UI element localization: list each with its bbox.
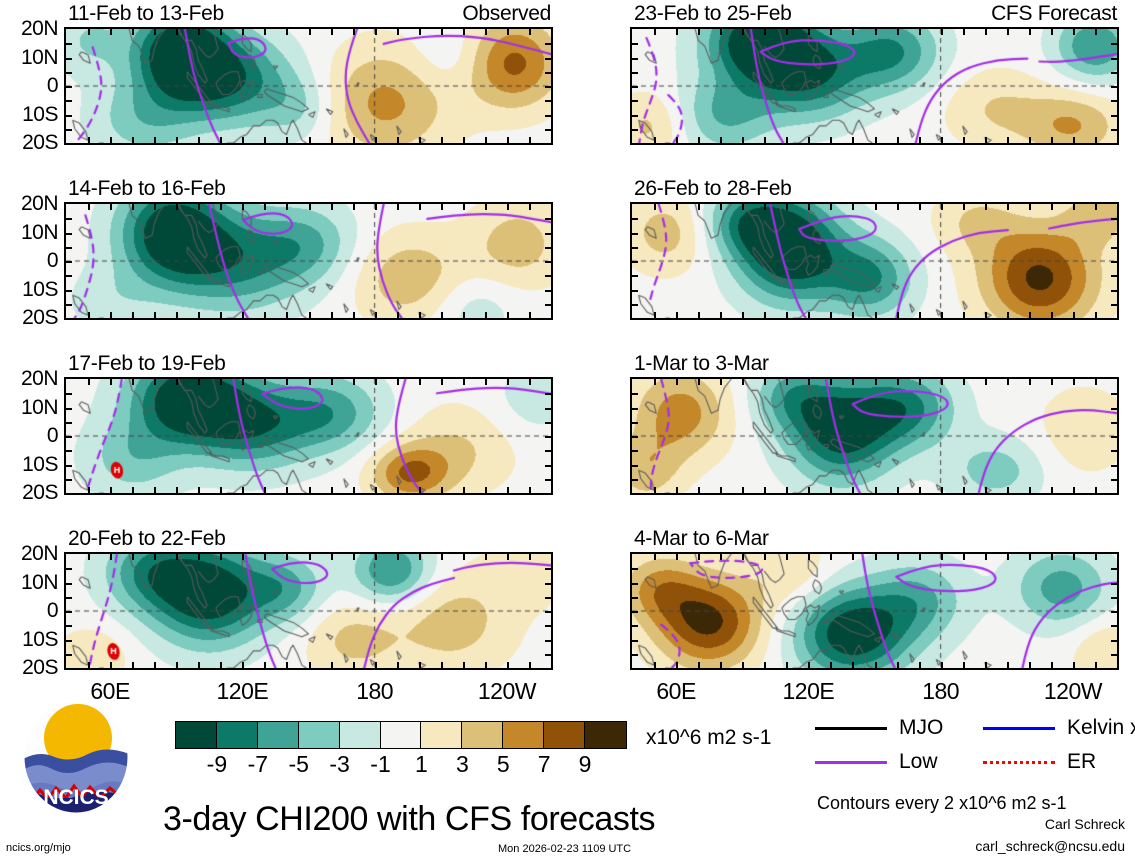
wave-legend-label: ER — [1067, 750, 1096, 774]
y-tick — [545, 72, 551, 74]
y-tick — [545, 43, 551, 45]
y-tick — [545, 290, 551, 292]
colorbar-swatch — [503, 722, 544, 748]
x-tick — [397, 29, 399, 35]
y-tick — [1111, 261, 1117, 263]
y-tick — [1111, 115, 1117, 117]
x-tick — [941, 29, 943, 35]
x-tick — [331, 137, 333, 143]
wave-legend-line — [815, 761, 887, 764]
map-panel-1: 11-Feb to 13-FebObserved — [64, 27, 553, 145]
x-tick — [375, 487, 377, 493]
y-tick — [545, 422, 551, 424]
y-tick — [632, 568, 638, 570]
y-tick — [1111, 654, 1117, 656]
x-tick — [397, 379, 399, 385]
colorbar-tick-label: -9 — [207, 751, 227, 778]
x-tick — [441, 554, 443, 560]
x-tick — [1007, 662, 1009, 668]
x-tick — [698, 29, 700, 35]
y-tick — [66, 465, 72, 467]
y-tick — [545, 625, 551, 627]
x-tick — [830, 312, 832, 318]
x-tick — [88, 29, 90, 35]
x-tick — [941, 379, 943, 385]
x-tick — [331, 312, 333, 318]
x-tick — [286, 29, 288, 35]
x-tick — [1029, 662, 1031, 668]
x-tick — [286, 554, 288, 560]
x-tick — [1073, 662, 1075, 668]
x-tick — [720, 29, 722, 35]
y-tick — [632, 247, 638, 249]
plot-area — [630, 27, 1119, 145]
x-tick — [110, 554, 112, 560]
x-tick — [897, 312, 899, 318]
x-tick — [419, 29, 421, 35]
y-tick — [66, 422, 72, 424]
figure-root: 11-Feb to 13-FebObserved14-Feb to 16-Feb… — [0, 0, 1135, 860]
y-tick — [1111, 583, 1117, 585]
y-tick — [66, 479, 72, 481]
x-tick — [485, 554, 487, 560]
y-tick — [1111, 233, 1117, 235]
x-tick — [1095, 662, 1097, 668]
x-axis-label: 120W — [478, 678, 536, 705]
y-tick — [632, 261, 638, 263]
plot-area — [630, 552, 1119, 670]
y-tick — [545, 611, 551, 613]
x-tick — [742, 29, 744, 35]
x-tick — [264, 312, 266, 318]
x-tick — [331, 204, 333, 210]
x-tick — [441, 204, 443, 210]
x-tick — [88, 662, 90, 668]
x-tick — [419, 554, 421, 560]
x-tick — [1007, 137, 1009, 143]
x-tick — [1029, 29, 1031, 35]
y-axis-label: 10N — [0, 46, 58, 70]
x-tick — [198, 312, 200, 318]
y-tick — [632, 218, 638, 220]
x-tick — [852, 662, 854, 668]
x-tick — [529, 379, 531, 385]
x-tick — [331, 662, 333, 668]
y-tick — [632, 625, 638, 627]
x-tick — [698, 379, 700, 385]
x-tick — [897, 379, 899, 385]
x-axis-label: 120E — [783, 678, 835, 705]
colorbar-swatch — [217, 722, 258, 748]
x-tick — [764, 137, 766, 143]
y-tick — [1111, 393, 1117, 395]
x-tick — [286, 379, 288, 385]
x-tick — [353, 554, 355, 560]
render-timestamp: Mon 2026-02-23 1109 UTC — [498, 843, 631, 855]
y-tick — [545, 450, 551, 452]
x-tick — [919, 204, 921, 210]
x-tick — [720, 137, 722, 143]
x-tick — [654, 29, 656, 35]
x-tick — [720, 312, 722, 318]
x-tick — [331, 29, 333, 35]
x-tick — [375, 29, 377, 35]
x-tick — [698, 487, 700, 493]
x-tick — [963, 487, 965, 493]
x-tick — [419, 662, 421, 668]
y-tick — [632, 611, 638, 613]
plot-area — [64, 377, 553, 495]
x-tick — [286, 204, 288, 210]
colorbar-swatch — [299, 722, 340, 748]
y-tick — [66, 393, 72, 395]
x-tick — [242, 379, 244, 385]
x-tick — [397, 312, 399, 318]
x-tick — [654, 487, 656, 493]
y-tick — [66, 290, 72, 292]
y-axis-label: 10S — [0, 628, 58, 652]
chi200-field — [632, 554, 1117, 668]
x-tick — [110, 487, 112, 493]
panel-title: 17-Feb to 19-Feb — [68, 352, 225, 376]
x-axis-label: 180 — [922, 678, 959, 705]
y-tick — [66, 625, 72, 627]
y-axis-label: 20N — [0, 192, 58, 216]
x-tick — [742, 137, 744, 143]
x-tick — [985, 379, 987, 385]
x-tick — [985, 554, 987, 560]
x-tick — [963, 662, 965, 668]
chi200-field — [632, 379, 1117, 493]
x-tick — [1029, 137, 1031, 143]
x-tick — [110, 29, 112, 35]
y-tick — [66, 304, 72, 306]
x-tick — [375, 137, 377, 143]
y-tick — [66, 436, 72, 438]
x-tick — [963, 29, 965, 35]
y-tick — [545, 640, 551, 642]
x-tick — [764, 312, 766, 318]
y-axis-label: 20S — [0, 656, 58, 680]
x-tick — [1095, 312, 1097, 318]
x-tick — [375, 204, 377, 210]
x-tick — [985, 662, 987, 668]
x-tick — [176, 137, 178, 143]
x-tick — [830, 379, 832, 385]
y-axis-label: 20N — [0, 17, 58, 41]
y-tick — [1111, 290, 1117, 292]
y-tick — [545, 100, 551, 102]
y-tick — [632, 43, 638, 45]
map-panel-2: 14-Feb to 16-Feb — [64, 202, 553, 320]
y-axis-label: 10S — [0, 103, 58, 127]
x-tick — [676, 137, 678, 143]
x-tick — [331, 554, 333, 560]
x-tick — [397, 662, 399, 668]
x-tick — [485, 487, 487, 493]
x-tick — [1029, 487, 1031, 493]
x-tick — [852, 554, 854, 560]
x-tick — [154, 312, 156, 318]
y-tick — [66, 640, 72, 642]
x-tick — [154, 662, 156, 668]
y-tick — [66, 218, 72, 220]
x-tick — [309, 29, 311, 35]
x-tick — [941, 137, 943, 143]
x-tick — [1051, 137, 1053, 143]
wave-legend-label: Kelvin x2 — [1067, 716, 1135, 740]
x-tick — [88, 137, 90, 143]
x-tick — [264, 379, 266, 385]
y-tick — [545, 436, 551, 438]
y-tick — [1111, 275, 1117, 277]
x-tick — [110, 204, 112, 210]
wave-legend-label: Low — [899, 750, 938, 774]
y-tick — [545, 247, 551, 249]
y-tick — [66, 100, 72, 102]
x-tick — [1073, 204, 1075, 210]
x-tick — [154, 204, 156, 210]
y-tick — [66, 611, 72, 613]
x-tick — [720, 487, 722, 493]
x-tick — [698, 204, 700, 210]
x-tick — [132, 312, 134, 318]
x-tick — [88, 379, 90, 385]
x-tick — [309, 204, 311, 210]
y-tick — [545, 568, 551, 570]
map-panel-8: 4-Mar to 6-Mar — [630, 552, 1119, 670]
x-tick — [698, 554, 700, 560]
x-tick — [485, 379, 487, 385]
x-tick — [1051, 379, 1053, 385]
x-tick — [220, 662, 222, 668]
x-tick — [742, 487, 744, 493]
y-tick — [632, 450, 638, 452]
plot-area — [64, 552, 553, 670]
y-tick — [632, 115, 638, 117]
x-tick — [220, 137, 222, 143]
wave-legend-line — [983, 727, 1055, 730]
x-tick — [264, 487, 266, 493]
x-tick — [875, 487, 877, 493]
x-tick — [353, 662, 355, 668]
y-tick — [632, 304, 638, 306]
colorbar-tick-label: 1 — [415, 751, 428, 778]
x-tick — [507, 662, 509, 668]
x-tick — [375, 312, 377, 318]
x-tick — [1051, 29, 1053, 35]
y-axis-label: 0 — [0, 249, 58, 273]
x-tick — [808, 204, 810, 210]
x-tick — [875, 29, 877, 35]
x-tick — [242, 137, 244, 143]
x-tick — [808, 137, 810, 143]
ncics-logo: NCICS — [18, 698, 134, 816]
x-tick — [1007, 554, 1009, 560]
x-tick — [808, 312, 810, 318]
y-tick — [545, 654, 551, 656]
y-tick — [1111, 247, 1117, 249]
x-tick — [242, 554, 244, 560]
x-tick — [764, 379, 766, 385]
y-tick — [632, 129, 638, 131]
colorbar-swatch — [544, 722, 585, 748]
x-tick — [176, 379, 178, 385]
x-tick — [397, 487, 399, 493]
panel-title: 14-Feb to 16-Feb — [68, 177, 225, 201]
x-tick — [286, 312, 288, 318]
x-tick — [419, 137, 421, 143]
x-tick — [309, 312, 311, 318]
y-tick — [632, 479, 638, 481]
x-tick — [375, 554, 377, 560]
x-tick — [852, 204, 854, 210]
x-tick — [132, 204, 134, 210]
y-tick — [545, 129, 551, 131]
x-tick — [1073, 379, 1075, 385]
chi200-field — [66, 554, 551, 668]
x-tick — [507, 137, 509, 143]
x-tick — [1095, 487, 1097, 493]
x-tick — [676, 312, 678, 318]
x-tick — [132, 137, 134, 143]
x-tick — [375, 379, 377, 385]
x-tick — [397, 554, 399, 560]
x-tick — [676, 554, 678, 560]
x-tick — [176, 29, 178, 35]
wave-legend-line — [815, 727, 887, 730]
y-tick — [545, 408, 551, 410]
y-tick — [66, 247, 72, 249]
x-tick — [309, 379, 311, 385]
y-axis-label: 0 — [0, 74, 58, 98]
x-tick — [654, 554, 656, 560]
panel-title: 20-Feb to 22-Feb — [68, 527, 225, 551]
chi200-field — [66, 204, 551, 318]
x-tick — [154, 137, 156, 143]
y-axis-label: 10S — [0, 453, 58, 477]
x-tick — [786, 29, 788, 35]
x-tick — [875, 137, 877, 143]
y-tick — [545, 261, 551, 263]
x-tick — [198, 204, 200, 210]
y-tick — [66, 654, 72, 656]
x-axis-label: 60E — [656, 678, 695, 705]
site-url: ncics.org/mjo — [6, 842, 71, 854]
x-tick — [286, 137, 288, 143]
x-tick — [485, 204, 487, 210]
x-tick — [985, 29, 987, 35]
x-tick — [463, 379, 465, 385]
y-tick — [1111, 568, 1117, 570]
x-tick — [963, 554, 965, 560]
x-tick — [441, 379, 443, 385]
x-tick — [1029, 312, 1031, 318]
colorbar-units-label: x10^6 m2 s-1 — [646, 726, 771, 750]
y-tick — [1111, 218, 1117, 220]
wave-legend-label: MJO — [899, 716, 943, 740]
y-axis-label: 20N — [0, 542, 58, 566]
x-tick — [919, 312, 921, 318]
colorbar-swatch — [462, 722, 503, 748]
y-axis-label: 20S — [0, 131, 58, 155]
x-tick — [654, 137, 656, 143]
x-tick — [507, 487, 509, 493]
y-tick — [632, 58, 638, 60]
x-tick — [353, 379, 355, 385]
x-tick — [220, 379, 222, 385]
y-axis-label: 20N — [0, 367, 58, 391]
x-tick — [720, 662, 722, 668]
x-tick — [132, 487, 134, 493]
x-tick — [897, 29, 899, 35]
x-tick — [397, 204, 399, 210]
x-tick — [463, 554, 465, 560]
colorbar-swatch — [421, 722, 462, 748]
wave-legend-item-low: Low — [815, 750, 938, 774]
y-tick — [632, 100, 638, 102]
x-tick — [353, 29, 355, 35]
x-tick — [897, 137, 899, 143]
x-tick — [485, 662, 487, 668]
y-tick — [66, 583, 72, 585]
y-tick — [545, 115, 551, 117]
x-tick — [941, 662, 943, 668]
x-tick — [1029, 204, 1031, 210]
x-tick — [529, 487, 531, 493]
x-tick — [764, 554, 766, 560]
map-panel-6: 26-Feb to 28-Feb — [630, 202, 1119, 320]
x-tick — [919, 662, 921, 668]
x-tick — [897, 204, 899, 210]
y-tick — [66, 129, 72, 131]
colorbar-swatch — [176, 722, 217, 748]
x-tick — [963, 379, 965, 385]
wave-legend-item-mjo: MJO — [815, 716, 943, 740]
x-tick — [852, 487, 854, 493]
x-tick — [176, 662, 178, 668]
x-tick — [220, 204, 222, 210]
x-tick — [507, 29, 509, 35]
y-tick — [545, 86, 551, 88]
x-tick — [309, 137, 311, 143]
x-tick — [110, 662, 112, 668]
x-tick — [88, 487, 90, 493]
x-tick — [309, 487, 311, 493]
x-tick — [441, 487, 443, 493]
y-tick — [66, 275, 72, 277]
y-tick — [1111, 86, 1117, 88]
y-tick — [1111, 72, 1117, 74]
x-tick — [242, 487, 244, 493]
chi200-field — [632, 29, 1117, 143]
x-tick — [242, 662, 244, 668]
x-tick — [220, 554, 222, 560]
x-tick — [529, 662, 531, 668]
x-tick — [720, 379, 722, 385]
y-tick — [632, 422, 638, 424]
x-tick — [764, 487, 766, 493]
x-tick — [242, 204, 244, 210]
x-tick — [529, 312, 531, 318]
y-tick — [632, 654, 638, 656]
y-tick — [1111, 436, 1117, 438]
y-tick — [66, 86, 72, 88]
y-tick — [1111, 611, 1117, 613]
colorbar-tick-label: -1 — [370, 751, 390, 778]
x-tick — [985, 204, 987, 210]
x-tick — [463, 487, 465, 493]
